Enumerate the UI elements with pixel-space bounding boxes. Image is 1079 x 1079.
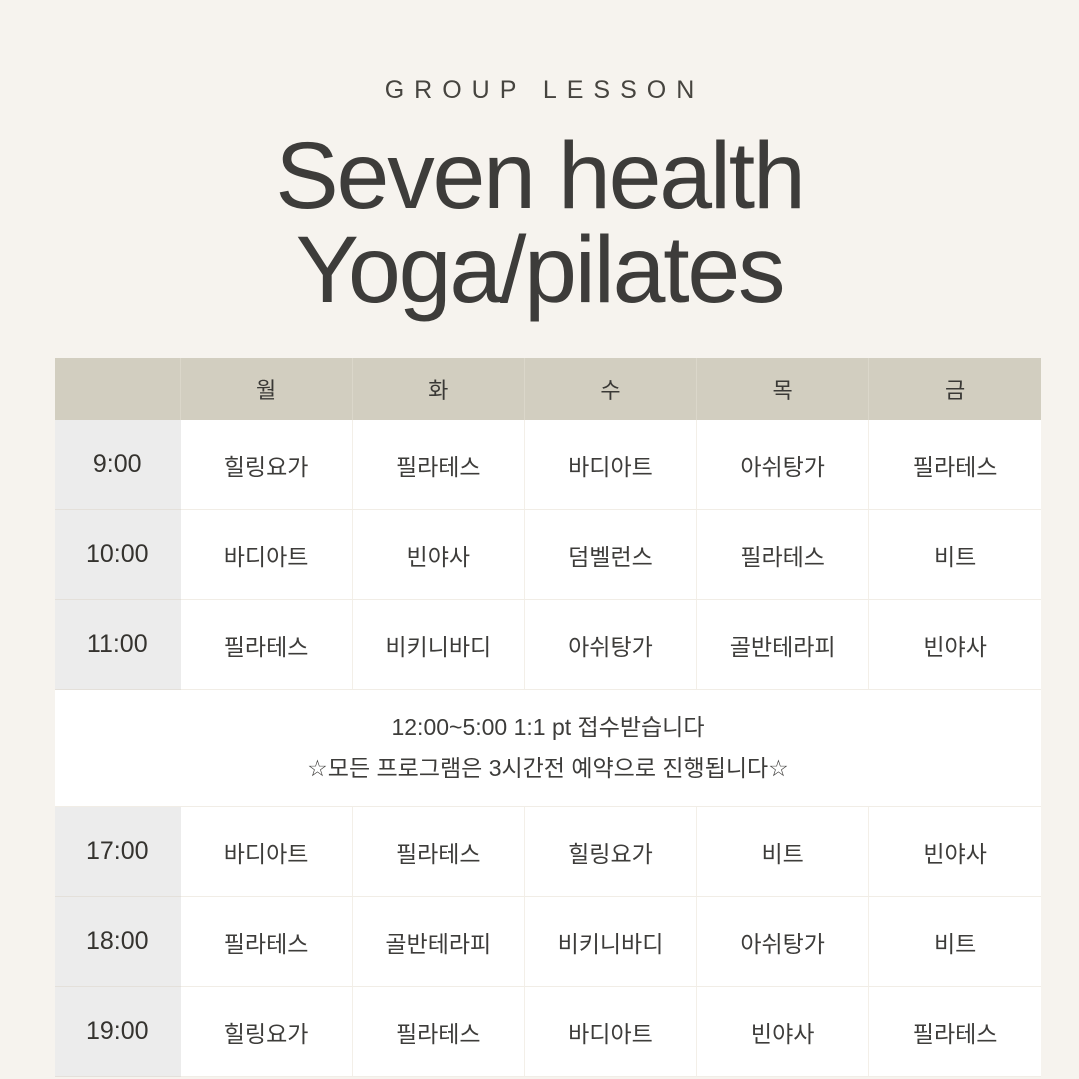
eyebrow-label: GROUP LESSON xyxy=(0,78,1079,103)
table-row: 11:00 필라테스 비키니바디 아쉬탕가 골반테라피 빈야사 xyxy=(55,600,1041,690)
day-header-row: 월 화 수 목 금 xyxy=(55,358,1041,420)
class-cell[interactable]: 힐링요가 xyxy=(180,987,352,1077)
class-cell[interactable]: 필라테스 xyxy=(869,420,1041,510)
page-title-line-2: Yoga/pilates xyxy=(0,223,1079,317)
class-cell[interactable]: 필라테스 xyxy=(352,420,524,510)
class-cell[interactable]: 아쉬탕가 xyxy=(697,897,869,987)
class-cell[interactable]: 필라테스 xyxy=(180,897,352,987)
class-cell[interactable]: 바디아트 xyxy=(524,987,696,1077)
class-cell[interactable]: 바디아트 xyxy=(524,420,696,510)
schedule-table: 월 화 수 목 금 9:00 힐링요가 필라테스 바디아트 아쉬탕가 필라테스 … xyxy=(55,358,1041,1077)
class-cell[interactable]: 바디아트 xyxy=(180,807,352,897)
class-cell[interactable]: 비키니바디 xyxy=(524,897,696,987)
class-cell[interactable]: 덤벨런스 xyxy=(524,510,696,600)
notice-line-2: ☆모든 프로그램은 3시간전 예약으로 진행됩니다☆ xyxy=(307,756,789,781)
class-cell[interactable]: 필라테스 xyxy=(697,510,869,600)
class-cell[interactable]: 골반테라피 xyxy=(697,600,869,690)
table-row: 18:00 필라테스 골반테라피 비키니바디 아쉬탕가 비트 xyxy=(55,897,1041,987)
day-header-fri: 금 xyxy=(869,358,1041,420)
schedule-table-body: 9:00 힐링요가 필라테스 바디아트 아쉬탕가 필라테스 10:00 바디아트… xyxy=(55,420,1041,1077)
table-row: 10:00 바디아트 빈야사 덤벨런스 필라테스 비트 xyxy=(55,510,1041,600)
notice-row: 12:00~5:00 1:1 pt 접수받습니다 ☆모든 프로그램은 3시간전 … xyxy=(55,690,1041,807)
table-row: 17:00 바디아트 필라테스 힐링요가 비트 빈야사 xyxy=(55,807,1041,897)
time-label: 18:00 xyxy=(55,897,180,987)
corner-header-cell xyxy=(55,358,180,420)
table-row: 19:00 힐링요가 필라테스 바디아트 빈야사 필라테스 xyxy=(55,987,1041,1077)
schedule-table-head: 월 화 수 목 금 xyxy=(55,358,1041,420)
class-cell[interactable]: 힐링요가 xyxy=(180,420,352,510)
class-cell[interactable]: 빈야사 xyxy=(352,510,524,600)
schedule-poster: GROUP LESSON Seven health Yoga/pilates 월… xyxy=(0,0,1079,1079)
time-label: 19:00 xyxy=(55,987,180,1077)
poster-header: GROUP LESSON Seven health Yoga/pilates xyxy=(0,0,1079,317)
day-header-wed: 수 xyxy=(524,358,696,420)
class-cell[interactable]: 비트 xyxy=(697,807,869,897)
time-label: 17:00 xyxy=(55,807,180,897)
page-title: Seven health Yoga/pilates xyxy=(0,129,1079,317)
class-cell[interactable]: 빈야사 xyxy=(869,600,1041,690)
class-cell[interactable]: 아쉬탕가 xyxy=(524,600,696,690)
day-header-thu: 목 xyxy=(697,358,869,420)
day-header-tue: 화 xyxy=(352,358,524,420)
day-header-mon: 월 xyxy=(180,358,352,420)
class-cell[interactable]: 힐링요가 xyxy=(524,807,696,897)
time-label: 11:00 xyxy=(55,600,180,690)
class-cell[interactable]: 비트 xyxy=(869,897,1041,987)
class-cell[interactable]: 빈야사 xyxy=(869,807,1041,897)
class-cell[interactable]: 비키니바디 xyxy=(352,600,524,690)
time-label: 10:00 xyxy=(55,510,180,600)
class-cell[interactable]: 필라테스 xyxy=(352,807,524,897)
class-cell[interactable]: 필라테스 xyxy=(180,600,352,690)
page-title-line-1: Seven health xyxy=(0,129,1079,223)
table-row: 9:00 힐링요가 필라테스 바디아트 아쉬탕가 필라테스 xyxy=(55,420,1041,510)
class-cell[interactable]: 필라테스 xyxy=(352,987,524,1077)
class-cell[interactable]: 빈야사 xyxy=(697,987,869,1077)
class-cell[interactable]: 비트 xyxy=(869,510,1041,600)
class-cell[interactable]: 아쉬탕가 xyxy=(697,420,869,510)
class-cell[interactable]: 골반테라피 xyxy=(352,897,524,987)
class-cell[interactable]: 필라테스 xyxy=(869,987,1041,1077)
class-cell[interactable]: 바디아트 xyxy=(180,510,352,600)
time-label: 9:00 xyxy=(55,420,180,510)
notice-cell: 12:00~5:00 1:1 pt 접수받습니다 ☆모든 프로그램은 3시간전 … xyxy=(55,690,1041,807)
notice-line-1: 12:00~5:00 1:1 pt 접수받습니다 xyxy=(391,715,704,740)
